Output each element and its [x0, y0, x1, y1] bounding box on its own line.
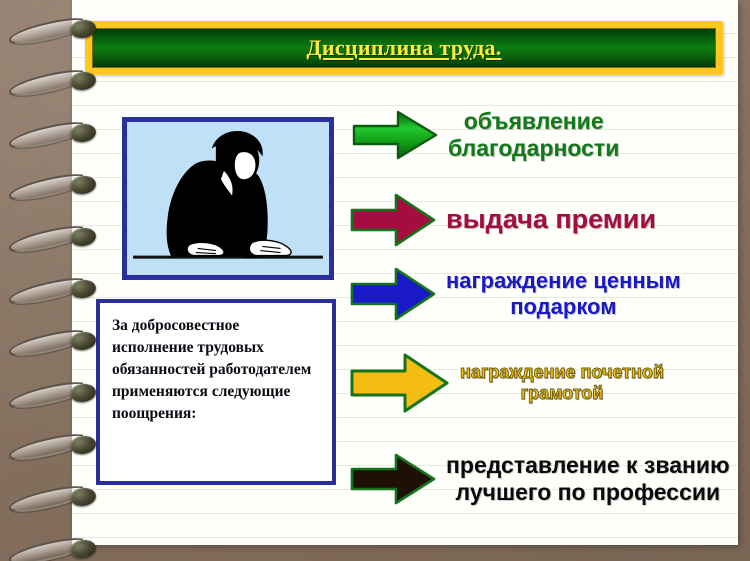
spiral-ring	[8, 280, 104, 299]
slide-canvas: Дисциплина труда.	[0, 0, 750, 561]
spiral-ring	[8, 124, 104, 143]
reward-label-3: награждение почетной грамотой	[460, 362, 664, 404]
arrow-right-icon	[350, 192, 436, 248]
arrow-right-icon	[350, 352, 450, 414]
intro-text-box: За добросовестное исполнение трудовых об…	[96, 299, 336, 485]
illustration-canvas	[127, 122, 329, 275]
spiral-ring	[8, 20, 104, 39]
page-title: Дисциплина труда.	[306, 35, 501, 61]
reward-label-4: представление к званию лучшего по профес…	[446, 452, 730, 505]
spiral-ring	[8, 436, 104, 455]
arrow-right-icon	[350, 266, 436, 322]
slide-title-band: Дисциплина труда.	[92, 28, 716, 68]
spiral-ring	[8, 540, 104, 559]
reward-item-3: награждение почетной грамотой	[350, 352, 742, 414]
spiral-ring	[8, 384, 104, 403]
spiral-ring	[8, 228, 104, 247]
spiral-ring	[8, 332, 104, 351]
reward-item-1: выдача премии	[350, 192, 742, 248]
reward-item-2: награждение ценным подарком	[350, 266, 742, 322]
spiral-ring	[8, 176, 104, 195]
reward-item-4: представление к званию лучшего по профес…	[350, 452, 746, 506]
spiral-binding	[0, 0, 110, 561]
reward-label-1: выдача премии	[446, 204, 656, 235]
slide-title-bar: Дисциплина труда.	[85, 21, 723, 75]
intro-paragraph: За добросовестное исполнение трудовых об…	[112, 315, 322, 425]
spiral-ring	[8, 72, 104, 91]
spiral-ring	[8, 488, 104, 507]
reward-item-0: объявление благодарности	[352, 108, 742, 161]
reward-label-2: награждение ценным подарком	[446, 268, 681, 319]
arrow-right-icon	[352, 109, 438, 161]
arrow-right-icon	[350, 452, 436, 506]
illustration-frame	[122, 117, 334, 280]
person-at-desk-icon	[127, 122, 329, 275]
reward-label-0: объявление благодарности	[448, 108, 619, 161]
